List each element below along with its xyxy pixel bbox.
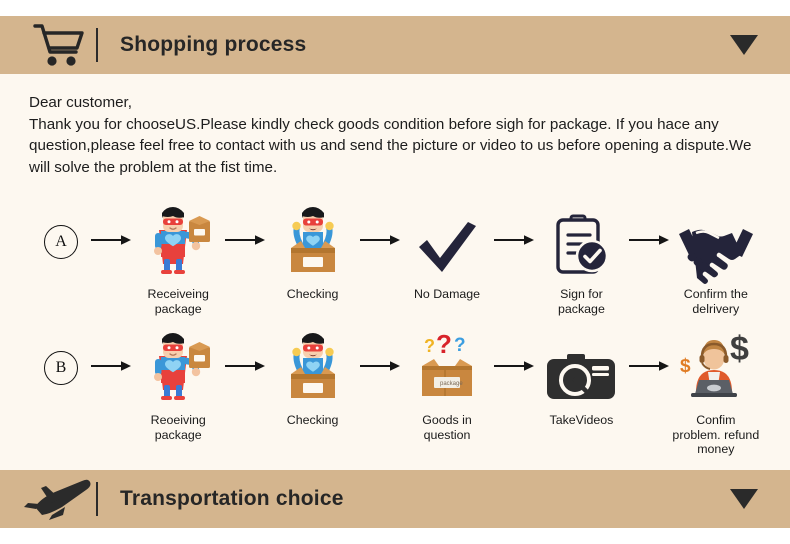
flow-step-label: Reoeiving package [134,413,222,442]
flow-step: Receiveing package [134,204,222,316]
svg-text:$: $ [730,330,749,368]
flow-step-label: Confirm the delrivery [672,287,760,316]
handshake-icon [676,204,756,276]
flow-arrow-icon [491,204,537,276]
flow-step: Reoeiving package [134,330,222,442]
clipboard-check-icon [552,204,610,276]
transportation-choice-title: Transportation choice [120,487,344,511]
flow-step: Checking [268,330,356,428]
notice-greeting: Dear customer, [29,92,764,114]
superhero-holding-box-icon [143,204,213,276]
flow-step-label: TakeVideos [550,413,614,428]
flow-step-label: Confim problem. refund money [672,413,760,457]
flow-step: TakeVideos [537,330,625,428]
header-divider [96,482,98,516]
svg-text:$: $ [680,356,691,377]
flow-step-label: Goods in question [403,413,491,442]
camera-icon [545,330,617,402]
flow-step-label: Receiveing package [134,287,222,316]
person-in-open-box-icon [280,330,346,402]
flow-arrow-icon [222,204,268,276]
flow-badge-a: A [44,225,78,259]
notice-body: Thank you for chooseUS.Please kindly che… [29,114,764,179]
svg-text:package: package [440,381,463,387]
person-in-open-box-icon [280,204,346,276]
flow-badge-b: B [44,351,78,385]
chevron-down-icon[interactable] [730,35,758,55]
flow-arrow-icon [626,330,672,402]
chevron-down-icon[interactable] [730,489,758,509]
support-agent-money-icon: $ $ [674,330,758,402]
shopping-process-header[interactable]: Shopping process [0,16,790,74]
flow-step: Checking [268,204,356,302]
flow-step-label: Sign for package [537,287,625,316]
svg-text:?: ? [436,329,452,359]
top-gutter [0,0,790,16]
bottom-gutter [0,528,790,544]
flow-arrow-icon [491,330,537,402]
flow-a-badge-cell: A [34,204,88,259]
flow-step: Confirm the delrivery [672,204,760,316]
svg-text:?: ? [424,336,435,356]
shopping-process-title: Shopping process [120,33,306,57]
flow-step-label: No Damage [414,287,480,302]
flow-b-badge-cell: B [34,330,88,385]
flow-step: $ $ [672,330,760,457]
flow-row-a: A [34,204,760,316]
flow-step-label: Checking [287,287,339,302]
flow-step: ? ? ? package Goods in question [403,330,491,442]
svg-text:?: ? [454,335,466,356]
flow-arrow-icon [357,204,403,276]
airplane-icon [22,470,96,528]
checkmark-icon [414,204,480,276]
superhero-holding-box-icon [143,330,213,402]
flow-arrow-icon [88,330,134,402]
header-divider [96,28,98,62]
promo-page: Shopping process Dear customer, Thank yo… [0,0,790,544]
box-with-question-marks-icon: ? ? ? package [412,330,482,402]
transportation-choice-header[interactable]: Transportation choice [0,470,790,528]
flow-step-label: Checking [287,413,339,428]
flow-arrow-icon [88,204,134,276]
flow-step: Sign for package [537,204,625,316]
flow-row-b: B [34,330,760,457]
flow-arrow-icon [357,330,403,402]
flow-step: No Damage [403,204,491,302]
flow-arrow-icon [222,330,268,402]
customer-notice: Dear customer, Thank you for chooseUS.Pl… [29,92,764,178]
flow-arrow-icon [626,204,672,276]
shopping-cart-icon [22,16,96,74]
